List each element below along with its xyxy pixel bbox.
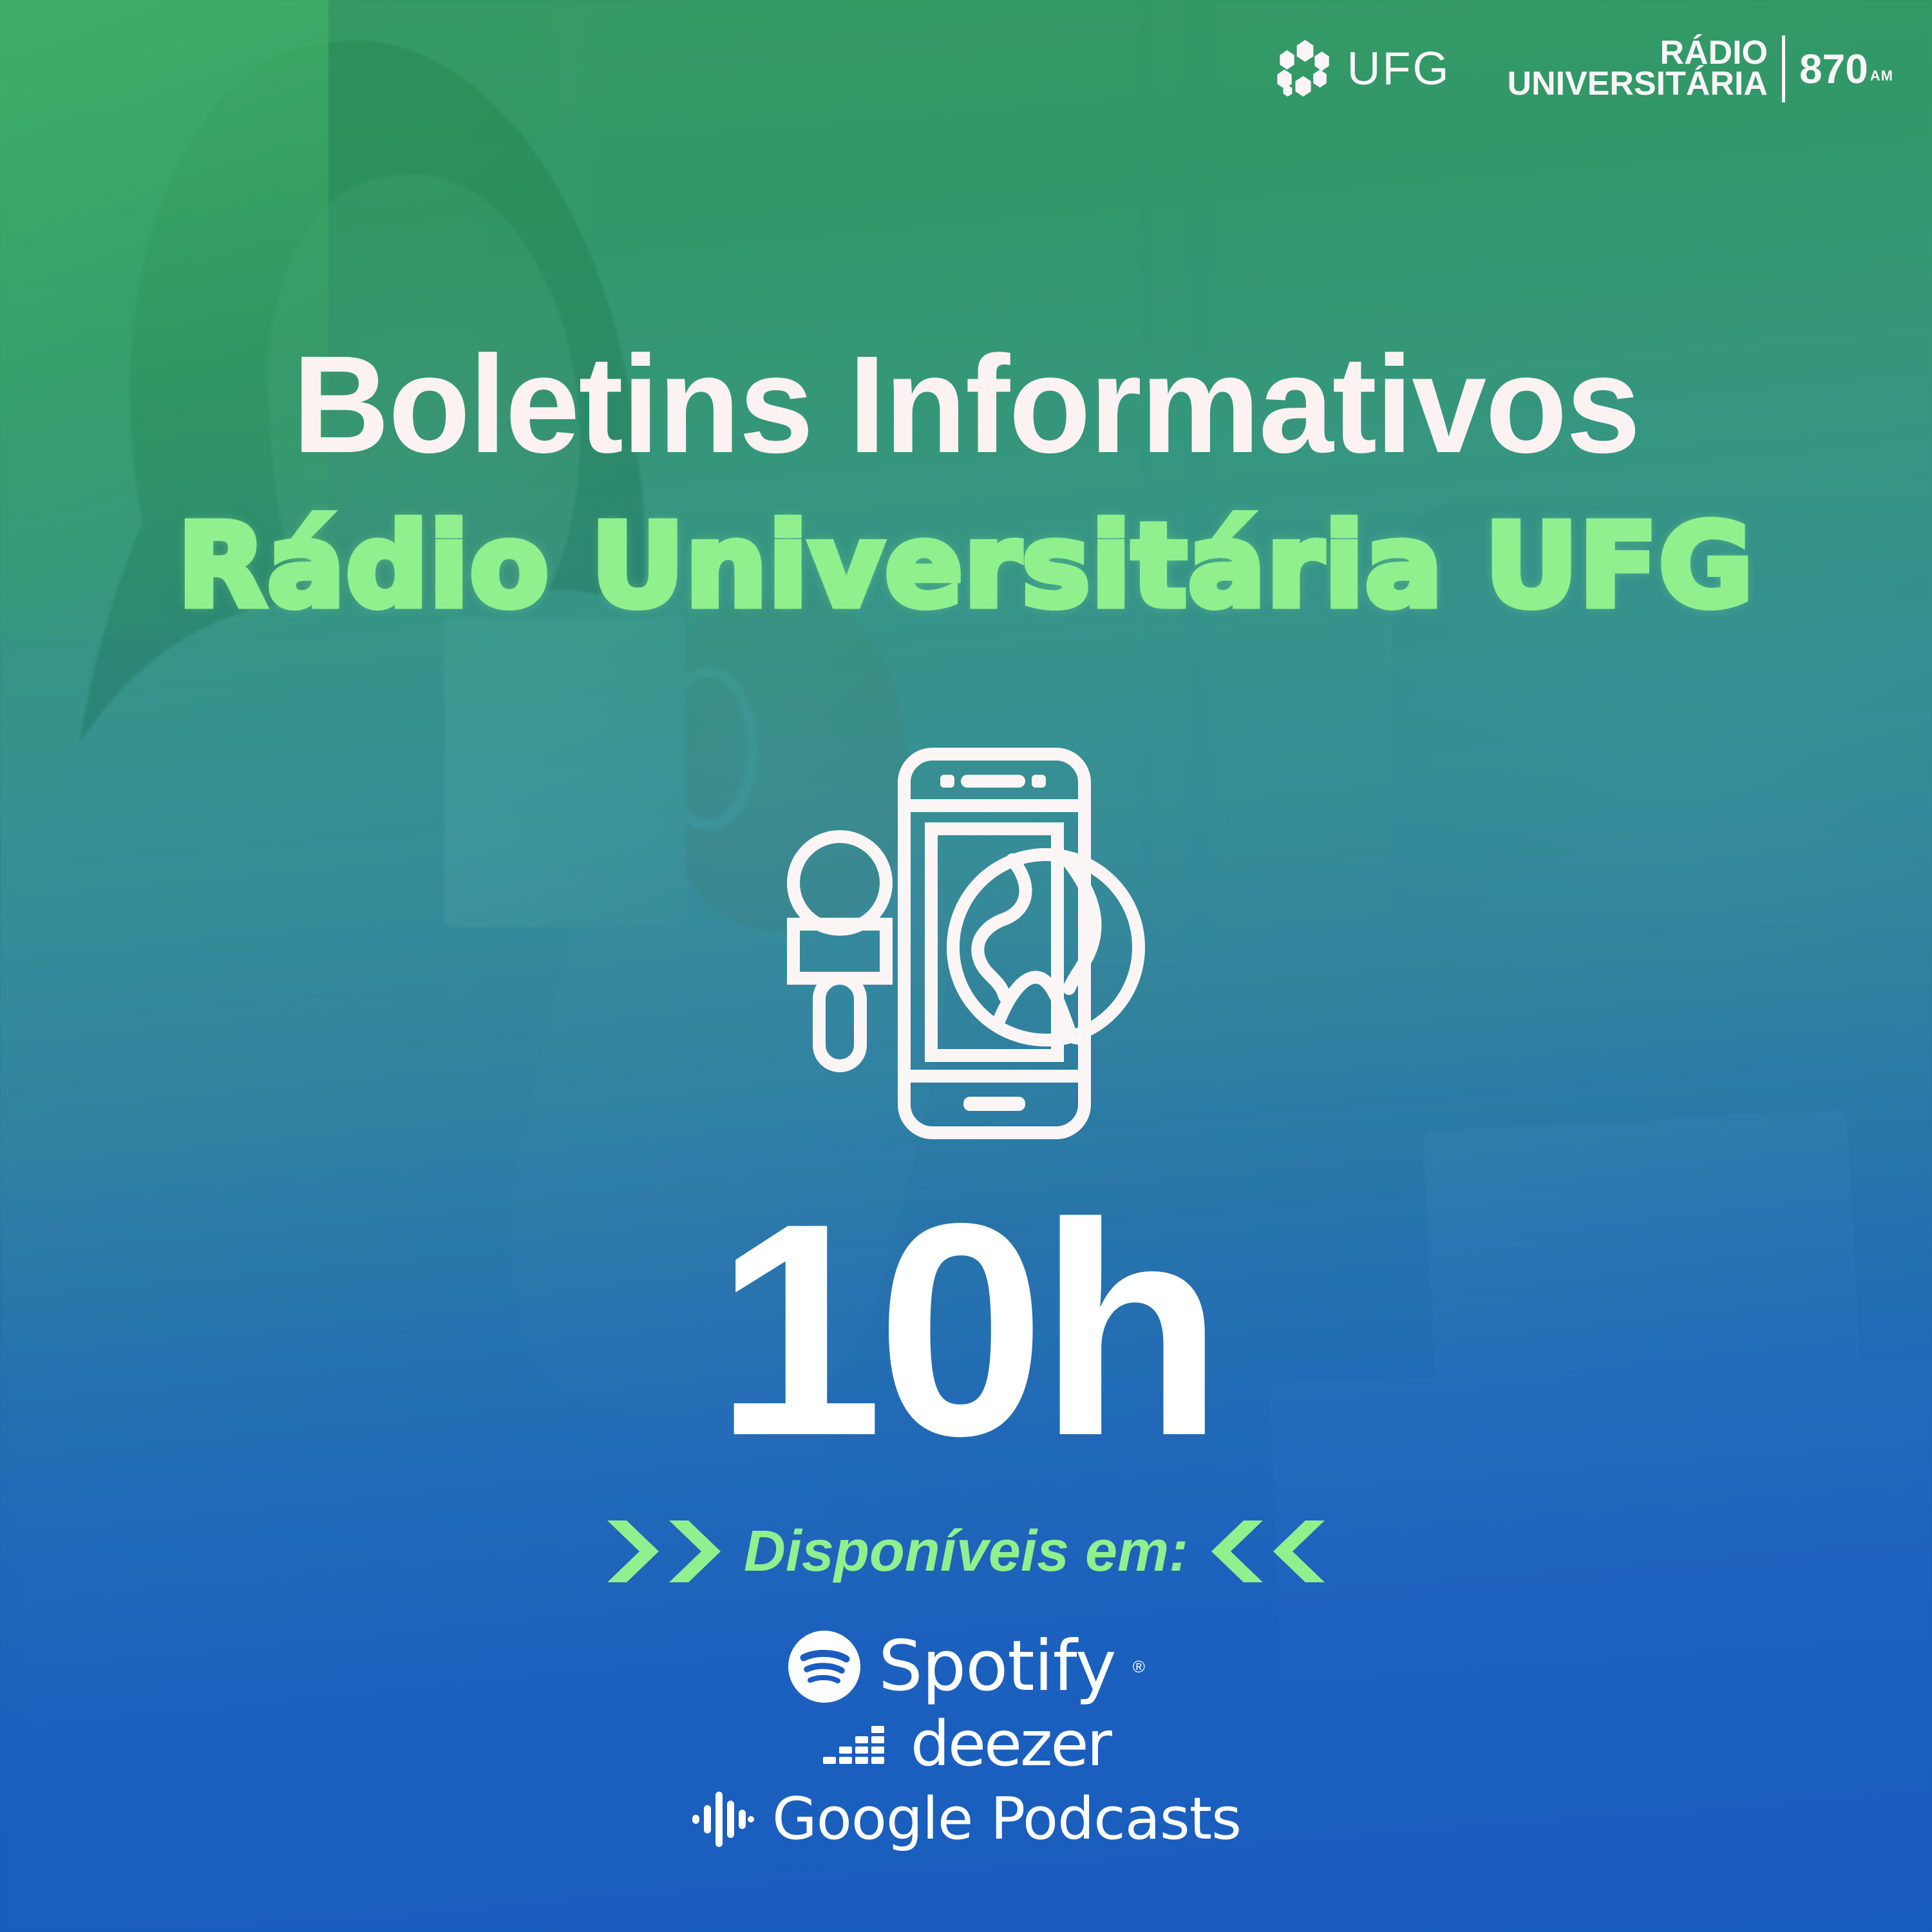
radio-frequency: 870 AM <box>1799 50 1893 89</box>
services-list: Spotify ® <box>0 1629 1932 1855</box>
radio-wordmark: RÁDIO UNIVERSITÁRIA <box>1508 38 1768 100</box>
logo-divider <box>1782 35 1785 102</box>
page-subtitle: Rádio Universitária UFG <box>0 509 1932 623</box>
spotify-trademark: ® <box>1133 1657 1145 1677</box>
double-chevron-left-icon <box>1205 1517 1327 1586</box>
smartphone-microphone-globe-icon <box>760 744 1172 1143</box>
deezer-equalizer-icon <box>822 1719 899 1768</box>
google-podcasts-icon <box>691 1784 755 1855</box>
availability-label: Disponíveis em: <box>744 1522 1188 1580</box>
service-spotify[interactable]: Spotify ® <box>787 1629 1145 1704</box>
double-chevron-right-icon <box>605 1517 727 1586</box>
ufg-wordmark: UFG <box>1347 46 1451 92</box>
ufg-hexagon-mark-icon <box>1276 40 1334 98</box>
spotify-label: Spotify <box>878 1632 1116 1701</box>
radio-universitaria-logo: RÁDIO UNIVERSITÁRIA 870 AM <box>1508 35 1893 102</box>
deezer-label: deezer <box>911 1713 1110 1775</box>
ufg-logo: UFG <box>1276 40 1451 98</box>
radio-line-1: RÁDIO <box>1508 38 1768 69</box>
service-deezer[interactable]: deezer <box>822 1713 1110 1775</box>
google-podcasts-label: Google Podcasts <box>772 1790 1241 1848</box>
radio-line-2: UNIVERSITÁRIA <box>1508 69 1768 100</box>
header-logos: UFG RÁDIO UNIVERSITÁRIA 870 AM <box>1276 35 1893 102</box>
poster-canvas: UFG RÁDIO UNIVERSITÁRIA 870 AM Boletins … <box>0 0 1932 1932</box>
frequency-number: 870 <box>1799 50 1868 89</box>
availability-row: Disponíveis em: <box>0 1517 1932 1586</box>
service-google-podcasts[interactable]: Google Podcasts <box>691 1784 1241 1855</box>
schedule-time: 10h <box>0 1179 1932 1481</box>
spotify-icon <box>787 1629 862 1704</box>
page-title: Boletins Informativos <box>29 335 1903 473</box>
frequency-band: AM <box>1870 69 1893 83</box>
